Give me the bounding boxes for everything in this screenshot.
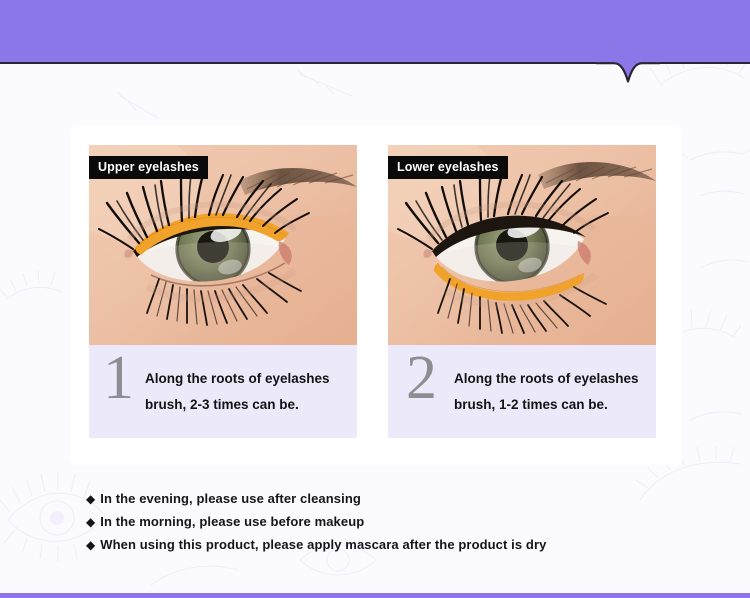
usage-note-text: In the evening, please use after cleansi…: [100, 491, 361, 506]
step-2-photo-tag: Lower eyelashes: [388, 156, 508, 179]
usage-note-text: In the morning, please use before makeup: [100, 514, 364, 529]
usage-method-page: Usage method: [0, 0, 750, 598]
step-1-caption-text: Along the roots of eyelashes brush, 2-3 …: [145, 366, 330, 418]
step-1-number: 1: [103, 347, 134, 409]
usage-notes-list: ◆ In the evening, please use after clean…: [86, 491, 546, 560]
usage-note-text: When using this product, please apply ma…: [100, 537, 546, 552]
step-2-caption: 2 Along the roots of eyelashes brush, 1-…: [388, 345, 656, 438]
step-2-caption-line2: brush, 1-2 times can be.: [454, 392, 639, 418]
step-2-photo: Lower eyelashes: [388, 145, 656, 345]
step-1-photo-tag: Upper eyelashes: [89, 156, 208, 179]
step-1-photo: Upper eyelashes: [89, 145, 357, 345]
step-block-2: Lower eyelashes 2 Along the roots of eye…: [388, 145, 656, 438]
usage-note-item: ◆ In the morning, please use before make…: [86, 514, 546, 529]
chevron-down-notch-icon: [596, 60, 660, 86]
diamond-bullet-icon: ◆: [86, 493, 95, 505]
usage-note-item: ◆ In the evening, please use after clean…: [86, 491, 546, 506]
step-2-caption-line1: Along the roots of eyelashes: [454, 366, 639, 392]
step-2-number: 2: [406, 347, 437, 409]
step-2-caption-text: Along the roots of eyelashes brush, 1-2 …: [454, 366, 639, 418]
step-1-caption-line1: Along the roots of eyelashes: [145, 366, 330, 392]
diamond-bullet-icon: ◆: [86, 516, 95, 528]
bottom-accent-strip: [0, 593, 750, 598]
page-header-bar: [0, 0, 750, 62]
step-1-caption-line2: brush, 2-3 times can be.: [145, 392, 330, 418]
diamond-bullet-icon: ◆: [86, 539, 95, 551]
step-block-1: Upper eyelashes 1 Along the roots of eye…: [89, 145, 357, 438]
step-1-caption: 1 Along the roots of eyelashes brush, 2-…: [89, 345, 357, 438]
usage-note-item: ◆ When using this product, please apply …: [86, 537, 546, 552]
